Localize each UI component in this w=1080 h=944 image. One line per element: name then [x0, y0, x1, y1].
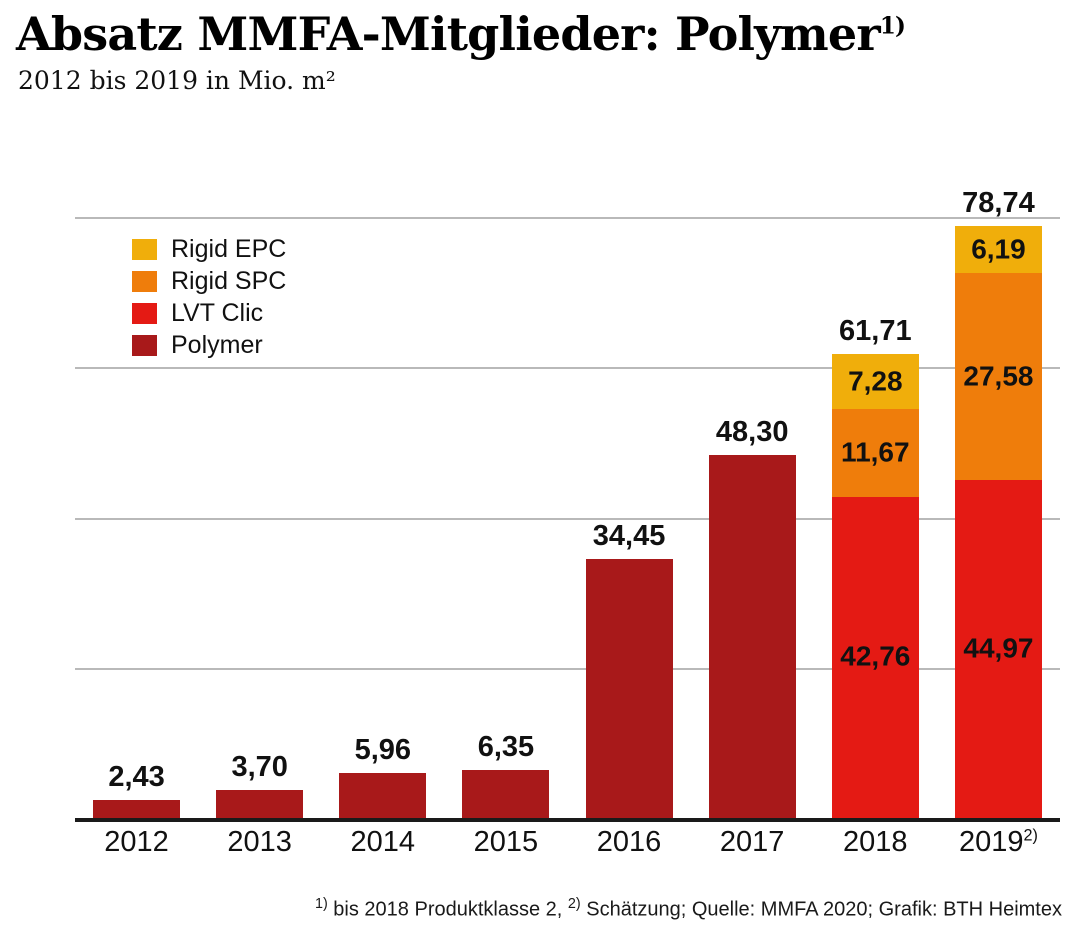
- bar-segment-polymer[interactable]: [709, 455, 796, 818]
- bar-stack: [709, 455, 796, 818]
- legend-item-label: Rigid EPC: [171, 235, 286, 264]
- legend-item-label: Rigid SPC: [171, 267, 286, 296]
- page-title-text: Absatz MMFA-Mitglieder: Polymer: [16, 7, 880, 61]
- bar-segment-rigid-epc[interactable]: 7,28: [832, 354, 919, 409]
- x-tick-label-text: 2013: [227, 826, 292, 858]
- x-tick-label-text: 2012: [104, 826, 169, 858]
- x-tick-label-text: 2015: [474, 826, 539, 858]
- segment-value-label: 42,76: [832, 641, 919, 673]
- title-footnote-marker: 1): [880, 13, 905, 40]
- legend-swatch-icon: [132, 239, 157, 260]
- bar-stack: [93, 800, 180, 818]
- legend-swatch-icon: [132, 271, 157, 292]
- footnote-marker: 1): [315, 896, 328, 912]
- legend-item-label: LVT Clic: [171, 299, 263, 328]
- x-axis-line: [75, 818, 1060, 822]
- segment-value-label: 6,19: [955, 233, 1042, 265]
- bar-segment-lvt-clic[interactable]: 44,97: [955, 480, 1042, 818]
- bar-total-label: 48,30: [687, 416, 818, 449]
- x-tick-label: 20192): [937, 826, 1060, 859]
- bar-group[interactable]: 34,45: [586, 217, 673, 818]
- footnote-marker: 2): [568, 896, 581, 912]
- legend-item-label: Polymer: [171, 331, 263, 360]
- bar-stack: 7,2811,6742,76: [832, 354, 919, 818]
- bar-stack: [586, 559, 673, 818]
- bar-segment-polymer[interactable]: [462, 770, 549, 818]
- chart-legend: Rigid EPCRigid SPCLVT ClicPolymer: [132, 234, 286, 362]
- bar-stack: [216, 790, 303, 818]
- bar-segment-lvt-clic[interactable]: 42,76: [832, 497, 919, 818]
- bar-total-label: 2,43: [71, 761, 202, 794]
- segment-value-label: 7,28: [832, 365, 919, 397]
- legend-item[interactable]: Rigid SPC: [132, 266, 286, 297]
- segment-value-label: 44,97: [955, 632, 1042, 664]
- bar-group[interactable]: 7,2811,6742,7661,71: [832, 217, 919, 818]
- bar-segment-polymer[interactable]: [216, 790, 303, 818]
- bar-stack: [339, 773, 426, 818]
- x-tick-label: 2012: [75, 826, 198, 859]
- x-tick-label: 2015: [444, 826, 567, 859]
- x-tick-label-text: 2014: [351, 826, 416, 858]
- x-tick-label: 2018: [814, 826, 937, 859]
- x-tick-label-text: 2019: [959, 826, 1024, 858]
- bar-segment-polymer[interactable]: [586, 559, 673, 818]
- bar-stack: 6,1927,5844,97: [955, 226, 1042, 818]
- bar-group[interactable]: 5,96: [339, 217, 426, 818]
- bar-group[interactable]: 48,30: [709, 217, 796, 818]
- bar-group[interactable]: 6,1927,5844,9778,74: [955, 217, 1042, 818]
- bar-segment-rigid-spc[interactable]: 11,67: [832, 409, 919, 497]
- bar-segment-rigid-spc[interactable]: 27,58: [955, 273, 1042, 480]
- bar-group[interactable]: 6,35: [462, 217, 549, 818]
- bar-total-label: 61,71: [810, 315, 941, 348]
- x-tick-label-text: 2017: [720, 826, 785, 858]
- segment-value-label: 27,58: [955, 360, 1042, 392]
- bar-segment-rigid-epc[interactable]: 6,19: [955, 226, 1042, 273]
- x-tick-label: 2013: [198, 826, 321, 859]
- bar-total-label: 78,74: [933, 187, 1064, 220]
- x-tick-footnote-marker: 2): [1023, 826, 1037, 844]
- bar-total-label: 6,35: [440, 731, 571, 764]
- bar-total-label: 34,45: [564, 520, 695, 553]
- legend-item[interactable]: Rigid EPC: [132, 234, 286, 265]
- x-axis: 201220132014201520162017201820192): [75, 826, 1060, 870]
- chart-header: Absatz MMFA-Mitglieder: Polymer1) 2012 b…: [0, 0, 1080, 95]
- bar-total-label: 3,70: [194, 751, 325, 784]
- bar-segment-polymer[interactable]: [339, 773, 426, 818]
- x-tick-label: 2017: [691, 826, 814, 859]
- bar-total-label: 5,96: [317, 734, 448, 767]
- bar-stack: [462, 770, 549, 818]
- x-tick-label: 2016: [568, 826, 691, 859]
- legend-swatch-icon: [132, 303, 157, 324]
- segment-value-label: 11,67: [832, 436, 919, 468]
- chart-subtitle: 2012 bis 2019 in Mio. m²: [18, 66, 1080, 95]
- legend-item[interactable]: Polymer: [132, 330, 286, 361]
- x-tick-label-text: 2018: [843, 826, 908, 858]
- x-tick-label: 2014: [321, 826, 444, 859]
- source-footnote: 1) bis 2018 Produktklasse 2, 2) Schätzun…: [0, 896, 1062, 922]
- legend-swatch-icon: [132, 335, 157, 356]
- page-title: Absatz MMFA-Mitglieder: Polymer1): [16, 10, 1080, 58]
- legend-item[interactable]: LVT Clic: [132, 298, 286, 329]
- bar-segment-polymer[interactable]: [93, 800, 180, 818]
- x-tick-label-text: 2016: [597, 826, 662, 858]
